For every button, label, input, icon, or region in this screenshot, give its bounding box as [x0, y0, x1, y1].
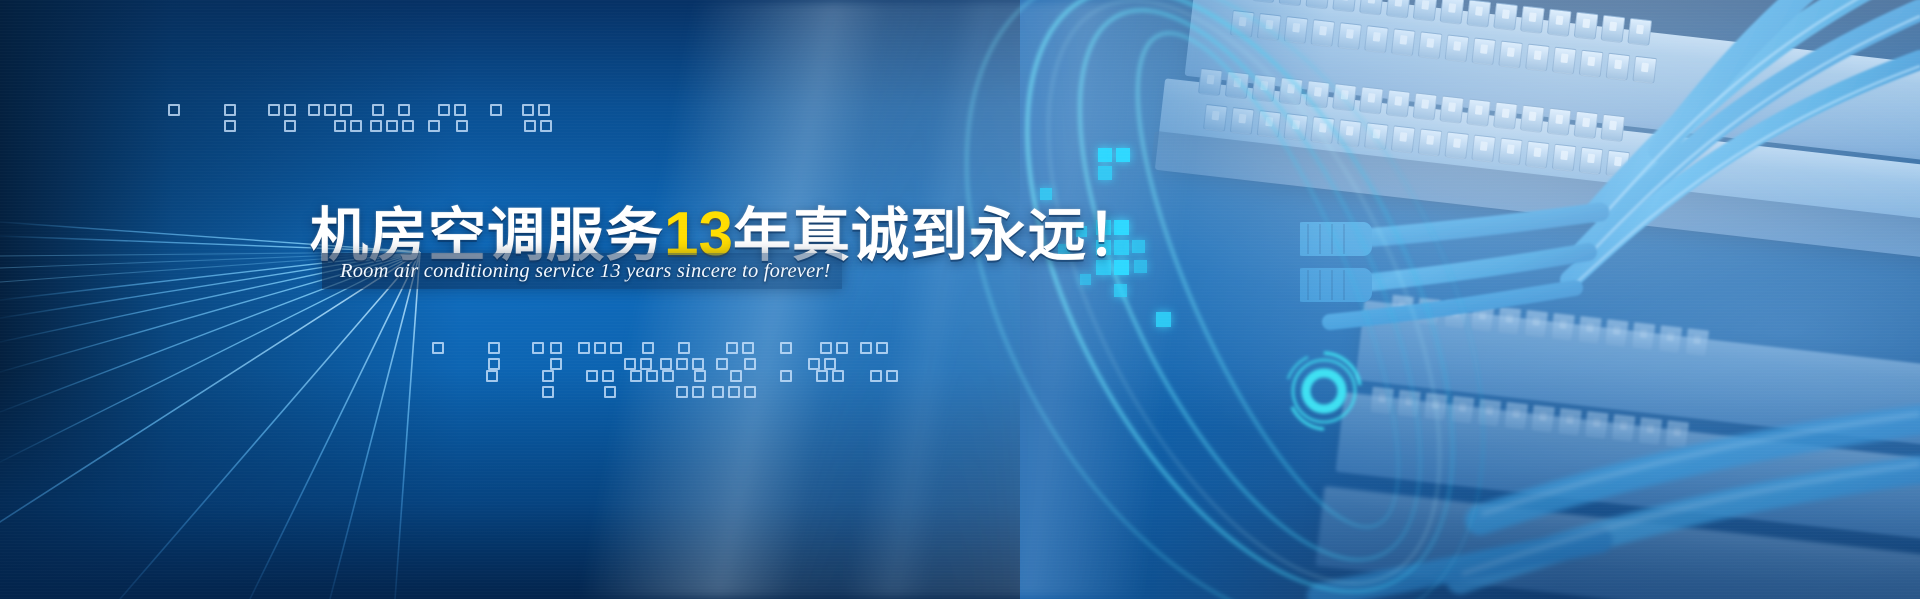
cyan-orbit-swirls — [820, 0, 1720, 599]
square-dot-tech-pattern-top — [160, 100, 580, 134]
subtitle: Room air conditioning service 13 years s… — [340, 256, 826, 286]
hud-ring — [1278, 345, 1370, 437]
hero-banner: 机房空调服务13年真诚到永远！ Room air conditioning se… — [0, 0, 1920, 599]
square-dot-tech-pattern-bottom-row2 — [480, 368, 930, 404]
